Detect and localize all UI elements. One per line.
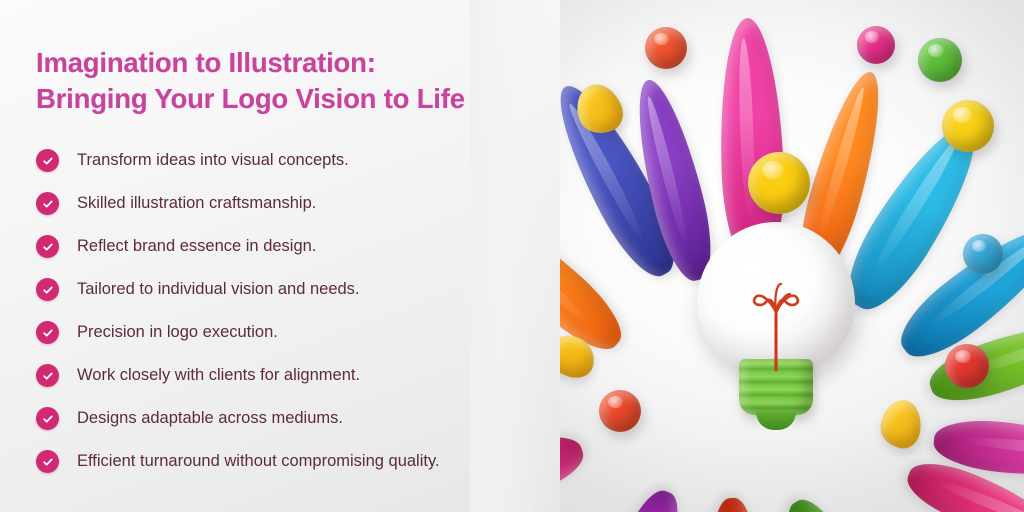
feature-item-label: Designs adaptable across mediums. xyxy=(77,409,343,429)
check-circle-icon xyxy=(36,407,59,430)
feature-item: Efficient turnaround without compromisin… xyxy=(36,440,576,483)
page-title-line-2: Bringing Your Logo Vision to Life xyxy=(36,81,556,117)
feature-item: Work closely with clients for alignment. xyxy=(36,354,576,397)
petal-red-bottom xyxy=(711,497,758,512)
check-circle-icon xyxy=(36,364,59,387)
feature-item-label: Transform ideas into visual concepts. xyxy=(77,151,349,171)
check-circle-icon xyxy=(36,278,59,301)
feature-item-label: Tailored to individual vision and needs. xyxy=(77,280,360,300)
ball-red-bottom-left xyxy=(599,390,641,432)
feature-item: Transform ideas into visual concepts. xyxy=(36,139,576,182)
feature-item: Tailored to individual vision and needs. xyxy=(36,268,576,311)
check-circle-icon xyxy=(36,149,59,172)
ball-orange-red-top xyxy=(645,27,687,69)
check-circle-icon xyxy=(36,450,59,473)
ball-blue-right xyxy=(963,234,1003,274)
drop-yellow-lower-right xyxy=(878,397,924,450)
feature-item-label: Precision in logo execution. xyxy=(77,323,278,343)
ball-green-top xyxy=(918,38,962,82)
feature-item: Reflect brand essence in design. xyxy=(36,225,576,268)
petal-green-bottom xyxy=(776,491,891,512)
page-title: Imagination to Illustration: Bringing Yo… xyxy=(36,45,556,118)
petal-violet-bottom xyxy=(590,483,690,512)
feature-item: Designs adaptable across mediums. xyxy=(36,397,576,440)
check-circle-icon xyxy=(36,192,59,215)
feature-item-label: Work closely with clients for alignment. xyxy=(77,366,360,386)
ball-pink-top xyxy=(857,26,895,64)
feature-list: Transform ideas into visual concepts.Ski… xyxy=(36,139,576,483)
feature-item-label: Efficient turnaround without compromisin… xyxy=(77,452,440,472)
bulb-contact-tip xyxy=(756,412,796,430)
hero-photo xyxy=(505,0,1024,512)
bulb-filament-icon xyxy=(733,254,819,372)
check-circle-icon xyxy=(36,321,59,344)
ball-yellow-center xyxy=(748,152,810,214)
ball-red-right xyxy=(945,344,989,388)
check-circle-icon xyxy=(36,235,59,258)
ball-yellow-right xyxy=(942,100,994,152)
page-title-line-1: Imagination to Illustration: xyxy=(36,45,556,81)
feature-item-label: Reflect brand essence in design. xyxy=(77,237,316,257)
light-bulb-graphic xyxy=(697,222,855,397)
promo-banner: Imagination to Illustration: Bringing Yo… xyxy=(0,0,1024,512)
feature-item-label: Skilled illustration craftsmanship. xyxy=(77,194,316,214)
feature-item: Skilled illustration craftsmanship. xyxy=(36,182,576,225)
feature-item: Precision in logo execution. xyxy=(36,311,576,354)
